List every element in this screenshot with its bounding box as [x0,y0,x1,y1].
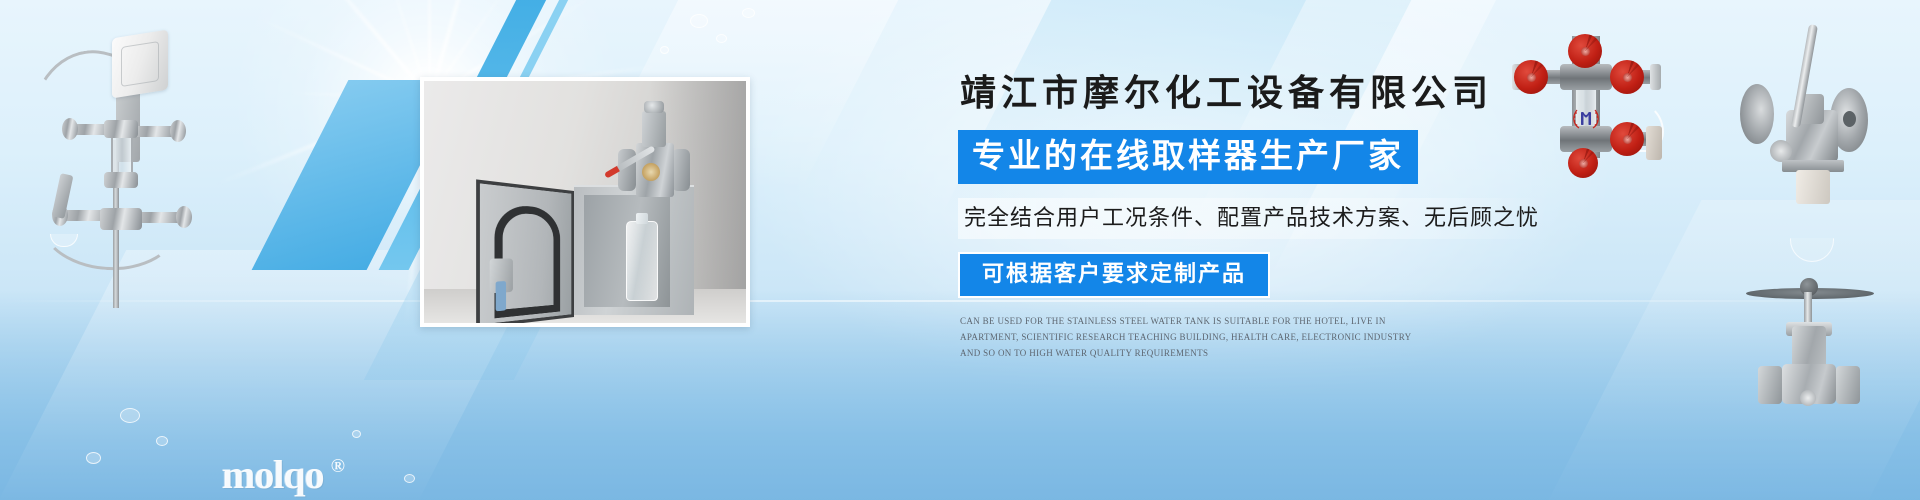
water-droplet-icon [86,452,101,464]
promo-banner: 靖江市摩尔化工设备有限公司 专业的在线取样器生产厂家 完全结合用户工况条件、配置… [0,0,1920,500]
water-droplet-icon [156,436,168,446]
sampler-valve-hub [104,120,138,138]
photo-valve-knob [644,101,664,113]
custom-product-badge: 可根据客户要求定制产品 [958,252,1270,298]
photo-cabinet-interior [584,195,670,307]
valve-flange [1740,84,1774,144]
photo-cabinet-door [476,179,574,327]
center-product-photo [420,77,750,327]
headline-badge: 专业的在线取样器生产厂家 [958,130,1418,184]
company-title: 靖江市摩尔化工设备有限公司 [960,74,1698,114]
photo-valve-badge [642,163,660,181]
water-droplet-icon [660,46,669,54]
handwheel-hub [1581,47,1590,56]
water-droplet-icon [742,8,755,18]
valve-flange [1836,366,1860,404]
photo-door-latch [490,258,513,293]
photo-sampling-valve [612,105,696,209]
left-product-sampler [8,22,198,307]
water-droplet-icon [352,430,361,438]
sampler-flange [176,206,192,228]
water-droplet-icon [690,14,708,28]
sampler-valve-hub [100,208,142,230]
photo-sample-bottle [626,221,658,301]
banner-text-block: 靖江市摩尔化工设备有限公司 专业的在线取样器生产厂家 完全结合用户工况条件、配置… [958,74,1698,361]
photo-valve-stack [642,111,666,147]
right-product-lever-valve [1730,28,1895,203]
valve-flange [1758,366,1782,404]
sample-cup-outline [1790,238,1834,262]
red-handwheel-icon [1568,34,1602,68]
valve-badge [1800,390,1816,406]
water-droplet-icon [404,474,415,483]
water-droplet-icon [120,408,140,423]
right-product-gate-valve [1738,230,1888,405]
sampler-valve-hub [104,172,138,188]
sub-headline: 完全结合用户工况条件、配置产品技术方案、无后顾之忧 [958,198,1549,240]
sampler-flange [170,120,186,142]
english-description: Can be used for the stainless steel wate… [960,314,1430,361]
photo-valve-flange [672,149,690,191]
valve-sleeve [1796,170,1830,204]
sampler-sight-glass [111,134,133,176]
water-droplet-icon [716,34,727,43]
valve-bonnet [1792,326,1826,368]
sampler-flange [62,118,78,140]
valve-badge [1770,140,1792,162]
sampler-enclosure [112,30,168,99]
